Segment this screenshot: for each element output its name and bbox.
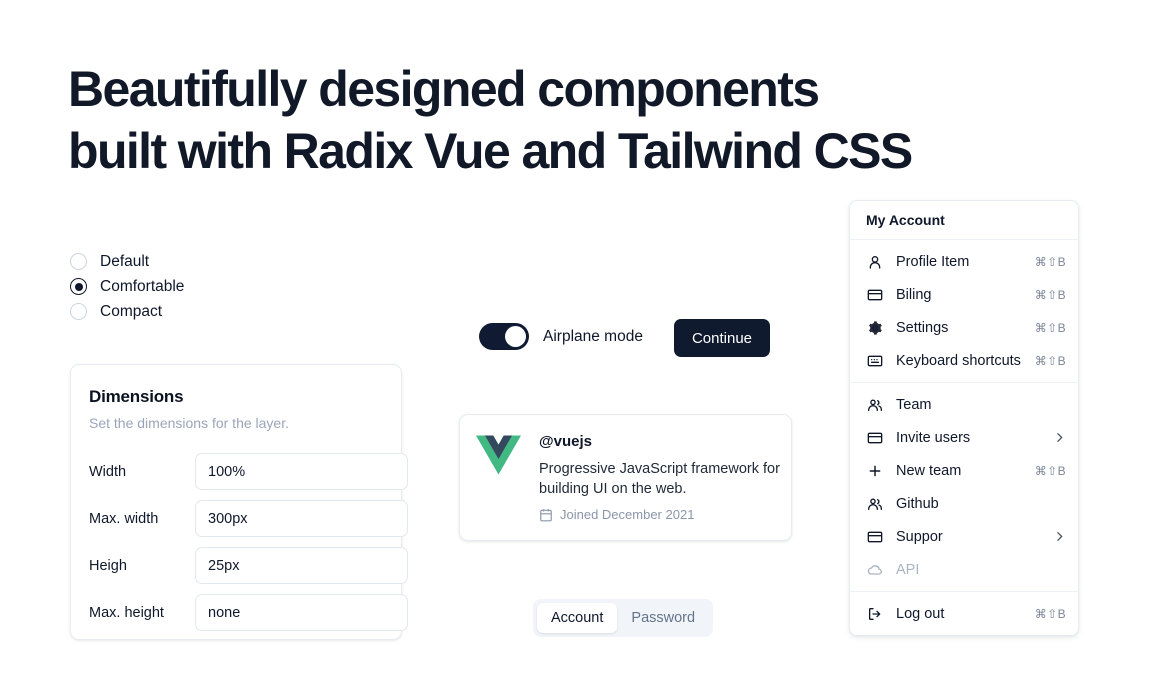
hover-card-handle: @vuejs [539,433,782,450]
menu-item-api: API [850,553,1078,586]
menu-item-label: Profile Item [896,254,1035,270]
chevron-right-icon [1053,431,1066,444]
menu-item-settings[interactable]: Settings ⌘⇧B [850,311,1078,344]
page-title-line-1: Beautifully designed components [68,58,1008,120]
radio-option-comfortable[interactable]: Comfortable [70,274,184,299]
dimensions-subtitle: Set the dimensions for the layer. [89,415,383,431]
menu-item-invite-users[interactable]: Invite users [850,421,1078,454]
dimensions-title: Dimensions [89,387,383,407]
hover-card-body: @vuejs Progressive JavaScript framework … [539,433,782,522]
menu-item-label: Keyboard shortcuts [896,353,1035,369]
radio-circle-icon [70,253,87,270]
radio-label: Comfortable [100,278,184,296]
tab-account[interactable]: Account [537,603,617,633]
switch-knob [505,326,526,347]
menu-item-label: Log out [896,606,1035,622]
dimensions-fields: Width Max. width Heigh Max. height [89,448,383,636]
cloud-icon [866,561,883,578]
credit-card-icon [866,528,883,545]
menu-item-label: Settings [896,320,1035,336]
menu-item-label: Suppor [896,529,1053,545]
menu-item-log-out[interactable]: Log out ⌘⇧B [850,597,1078,630]
menu-item-label: API [896,562,1066,578]
menu-item-label: Invite users [896,430,1053,446]
person-icon [866,253,883,270]
vue-logo-icon [476,435,521,475]
menu-item-shortcut: ⌘⇧B [1035,288,1066,302]
height-input[interactable] [195,547,408,584]
page-root: Beautifully designed components built wi… [0,0,1152,700]
keyboard-icon [866,352,883,369]
field-row-max-width: Max. width [89,495,383,542]
account-dropdown-menu: My Account Profile Item ⌘⇧B Biling ⌘⇧B [849,200,1079,636]
page-title: Beautifully designed components built wi… [68,58,1008,182]
radio-circle-selected-icon [70,278,87,295]
field-row-max-height: Max. height [89,589,383,636]
menu-group-team: Team Invite users New team ⌘⇧B [850,383,1078,591]
airplane-mode-row: Airplane mode [479,323,643,350]
menu-item-label: Github [896,496,1066,512]
field-label: Heigh [89,558,195,574]
users-icon [866,495,883,512]
hover-card-meta: Joined December 2021 [539,507,782,522]
radio-label: Default [100,253,149,271]
tab-password[interactable]: Password [617,603,709,633]
menu-item-profile[interactable]: Profile Item ⌘⇧B [850,245,1078,278]
hover-card-joined: Joined December 2021 [560,507,694,522]
field-label: Width [89,464,195,480]
credit-card-icon [866,429,883,446]
calendar-icon [539,508,553,522]
airplane-mode-switch[interactable] [479,323,529,350]
radio-circle-icon [70,303,87,320]
menu-item-label: New team [896,463,1035,479]
dimensions-card: Dimensions Set the dimensions for the la… [70,364,402,640]
menu-header: My Account [850,201,1078,239]
plus-icon [866,462,883,479]
credit-card-icon [866,286,883,303]
max-width-input[interactable] [195,500,408,537]
field-label: Max. width [89,511,195,527]
page-title-line-2: built with Radix Vue and Tailwind CSS [68,120,1008,182]
menu-item-github[interactable]: Github [850,487,1078,520]
menu-item-shortcut: ⌘⇧B [1035,255,1066,269]
users-icon [866,396,883,413]
continue-button[interactable]: Continue [674,319,770,357]
radio-option-default[interactable]: Default [70,249,184,274]
field-row-width: Width [89,448,383,495]
menu-item-billing[interactable]: Biling ⌘⇧B [850,278,1078,311]
menu-item-label: Biling [896,287,1035,303]
field-label: Max. height [89,605,195,621]
gear-icon [866,319,883,336]
max-height-input[interactable] [195,594,408,631]
radio-option-compact[interactable]: Compact [70,299,184,324]
menu-group-session: Log out ⌘⇧B [850,592,1078,635]
menu-item-shortcut: ⌘⇧B [1035,354,1066,368]
airplane-mode-label: Airplane mode [543,328,643,346]
vuejs-hover-card: @vuejs Progressive JavaScript framework … [459,414,792,541]
radio-label: Compact [100,303,162,321]
menu-group-account: Profile Item ⌘⇧B Biling ⌘⇧B Settings ⌘⇧B [850,240,1078,382]
chevron-right-icon [1053,530,1066,543]
settings-tabs: Account Password [533,599,713,637]
menu-item-team[interactable]: Team [850,388,1078,421]
density-radio-group: Default Comfortable Compact [70,249,184,324]
width-input[interactable] [195,453,408,490]
menu-item-label: Team [896,397,1066,413]
field-row-height: Heigh [89,542,383,589]
menu-item-keyboard-shortcuts[interactable]: Keyboard shortcuts ⌘⇧B [850,344,1078,377]
logout-icon [866,605,883,622]
hover-card-description: Progressive JavaScript framework for bui… [539,459,782,499]
menu-item-new-team[interactable]: New team ⌘⇧B [850,454,1078,487]
menu-item-shortcut: ⌘⇧B [1035,464,1066,478]
menu-item-support[interactable]: Suppor [850,520,1078,553]
menu-item-shortcut: ⌘⇧B [1035,607,1066,621]
menu-item-shortcut: ⌘⇧B [1035,321,1066,335]
